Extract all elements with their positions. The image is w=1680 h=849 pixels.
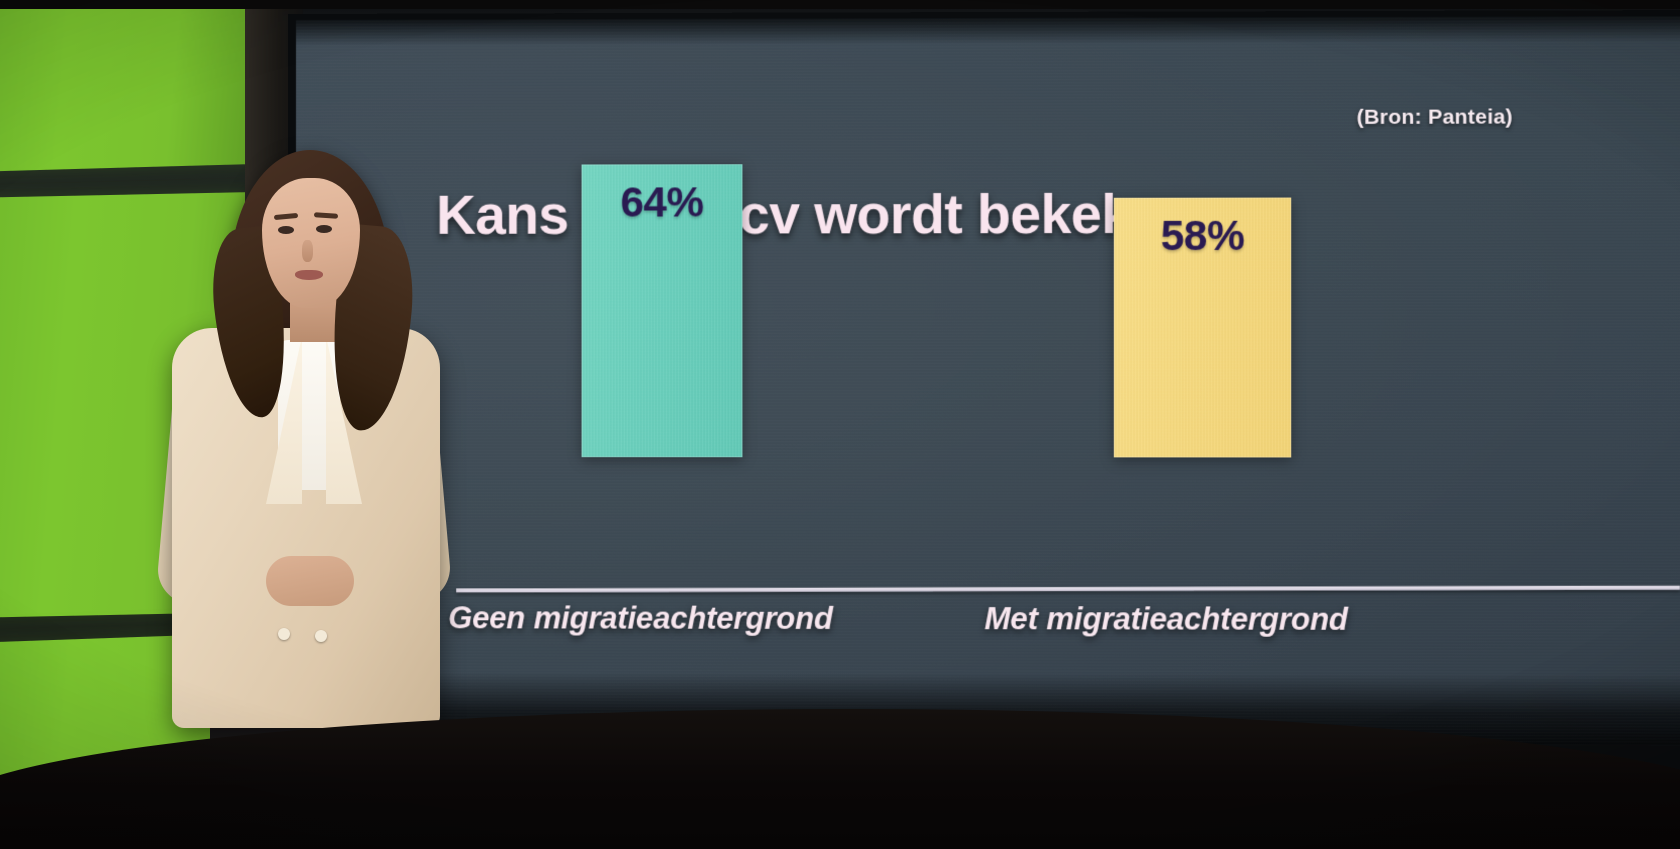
top-overlay-strip [0, 0, 1680, 9]
bar-value-label: 64% [582, 178, 743, 226]
display-screen: (Bron: Panteia) Kans dat je cv wordt bek… [296, 16, 1680, 746]
category-label-geen-migratieachtergrond: Geen migratieachtergrond [448, 600, 833, 637]
chart-baseline-axis [456, 586, 1680, 593]
blazer-button [278, 628, 290, 640]
bar-chart: 64% 58% Geen migratieachtergrond Met mig… [296, 16, 1680, 746]
display-screen-frame: (Bron: Panteia) Kans dat je cv wordt bek… [288, 10, 1680, 778]
bar-geen-migratieachtergrond: 64% [582, 164, 743, 457]
presenter-nose [302, 240, 313, 262]
presenter-mouth [295, 270, 323, 280]
presenter-eye-left [278, 226, 294, 234]
bar-value-label: 58% [1114, 212, 1291, 261]
screenshot-stage: (Bron: Panteia) Kans dat je cv wordt bek… [0, 0, 1680, 849]
category-label-met-migratieachtergrond: Met migratieachtergrond [984, 601, 1347, 638]
slide: (Bron: Panteia) Kans dat je cv wordt bek… [296, 16, 1680, 746]
presenter-eye-right [316, 225, 332, 233]
bar-met-migratieachtergrond: 58% [1114, 198, 1291, 458]
blazer-button [315, 630, 327, 642]
presenter-hands [266, 556, 354, 606]
